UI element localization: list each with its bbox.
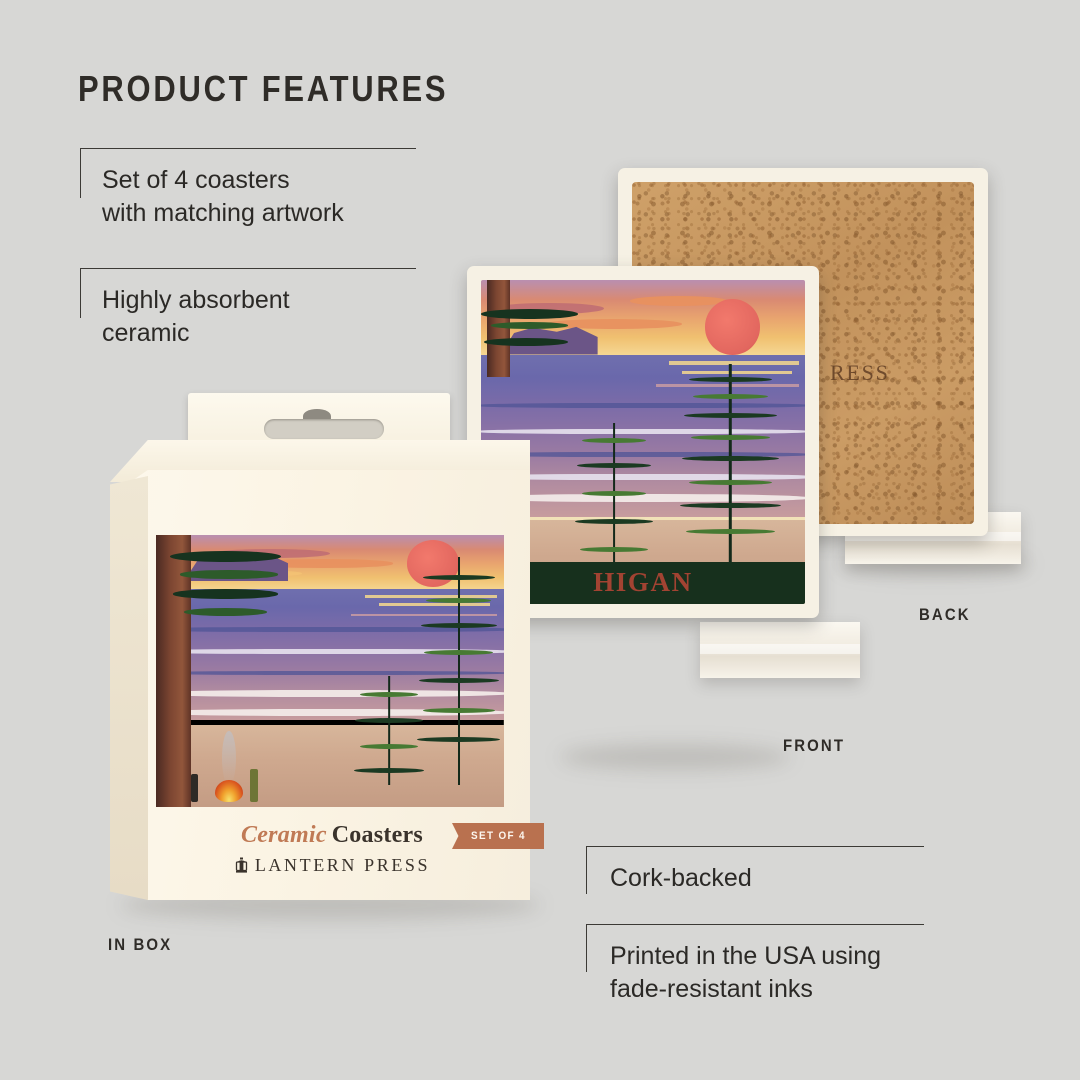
pine-limb (582, 491, 646, 496)
pine-limb (423, 708, 495, 713)
pine-limb (684, 413, 777, 418)
feature-tick (80, 148, 81, 198)
feature-tick (80, 268, 81, 318)
pine-limb (360, 692, 418, 697)
art-pine-tree (572, 423, 656, 579)
hang-tab-slot (264, 419, 384, 439)
art-title-text: HIGAN (593, 567, 693, 598)
pine-limb (689, 480, 773, 485)
feature-rule (80, 268, 416, 269)
pine-limb (691, 435, 770, 440)
pine-limb (421, 623, 497, 628)
art-branch (180, 570, 277, 578)
art-tree-trunk (487, 280, 510, 377)
pine-limb (417, 737, 500, 742)
pine-limb (423, 575, 495, 580)
feature-text: Highly absorbent ceramic (102, 284, 422, 350)
product-box: CeramicCoasters LANTERN PRESS SET OF 4 (110, 440, 530, 900)
cork-stamp-text: RESS (830, 360, 890, 386)
pine-limb (426, 598, 491, 603)
caption-in-box: IN BOX (108, 935, 172, 955)
box-brand-row: LANTERN PRESS (110, 855, 530, 876)
art-branch (491, 322, 569, 328)
pine-limb (424, 650, 493, 655)
art-pine-tree (675, 364, 785, 578)
pine-limb (682, 456, 779, 461)
pine-limb (360, 744, 418, 749)
art-person (250, 769, 258, 802)
page-title: PRODUCT FEATURES (78, 68, 448, 110)
box-label-serif-word: Coasters (332, 822, 423, 848)
box-brand-name: LANTERN PRESS (255, 855, 430, 876)
pine-limb (680, 503, 781, 508)
front-coaster-shadow (560, 744, 790, 770)
feature-text: Set of 4 coasters with matching artwork (102, 164, 422, 230)
set-of-4-badge-text: SET OF 4 (471, 830, 526, 842)
feature-rule (586, 924, 924, 925)
feature-absorbent: Highly absorbent ceramic (80, 268, 416, 378)
pine-limb (577, 463, 651, 468)
box-window-artwork (156, 535, 504, 807)
caption-back: BACK (919, 605, 971, 625)
pine-limb (575, 519, 652, 524)
pine-stem (613, 423, 615, 579)
art-cloud (630, 296, 727, 306)
pine-limb (582, 438, 646, 443)
art-campfire-smoke (222, 731, 236, 785)
front-coaster-stand (700, 622, 860, 678)
feature-text: Cork-backed (610, 862, 930, 895)
feature-printed-usa: Printed in the USA using fade-resistant … (586, 924, 924, 1034)
art-branch (184, 608, 268, 616)
feature-cork-backed: Cork-backed (586, 846, 924, 916)
pine-limb (686, 529, 774, 534)
pine-limb (354, 768, 424, 773)
pine-limb (693, 394, 768, 399)
art-sun (705, 299, 760, 354)
box-label-script-word: Ceramic (241, 822, 327, 848)
feature-set-of-4: Set of 4 coasters with matching artwork (80, 148, 416, 258)
art-branch (173, 589, 277, 598)
feature-tick (586, 846, 587, 894)
pine-limb (419, 678, 499, 683)
feature-text: Printed in the USA using fade-resistant … (610, 940, 946, 1006)
feature-rule (80, 148, 416, 149)
set-of-4-badge: SET OF 4 (452, 823, 544, 849)
art-branch (481, 309, 578, 319)
art-person (191, 774, 199, 801)
art-pine-tree (351, 676, 428, 785)
caption-front: FRONT (783, 736, 845, 756)
stand-edge (700, 644, 860, 654)
lantern-icon (234, 857, 249, 874)
pine-limb (580, 547, 647, 552)
pine-limb (355, 718, 422, 723)
pine-stem (458, 557, 460, 785)
feature-rule (586, 846, 924, 847)
feature-tick (586, 924, 587, 972)
art-campfire (215, 780, 243, 802)
infographic-canvas: RESS (0, 0, 1080, 1080)
campfire-flame (215, 780, 243, 802)
pine-limb (689, 377, 773, 382)
